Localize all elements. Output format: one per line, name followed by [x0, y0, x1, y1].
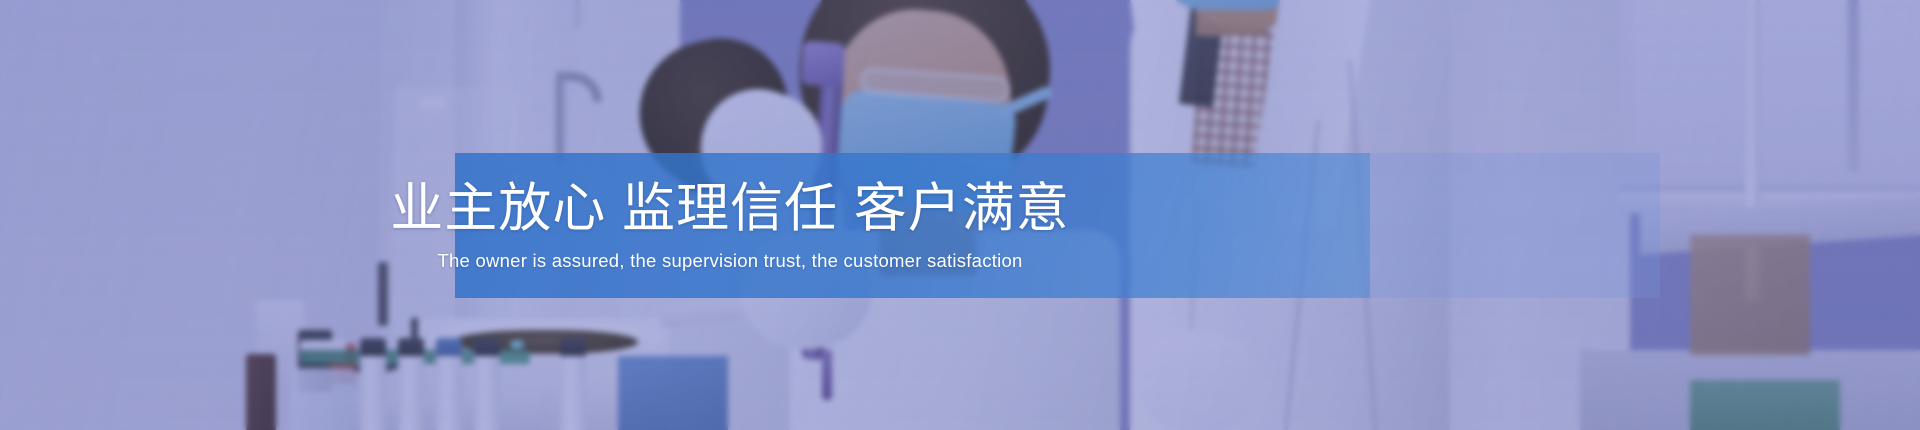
hero-banner: 业主放心 监理信任 客户满意 The owner is assured, the…	[0, 0, 1920, 430]
banner-subheadline: The owner is assured, the supervision tr…	[437, 250, 1022, 272]
banner-text-block: 业主放心 监理信任 客户满意 The owner is assured, the…	[0, 153, 1920, 298]
banner-headline: 业主放心 监理信任 客户满意	[390, 179, 1069, 238]
